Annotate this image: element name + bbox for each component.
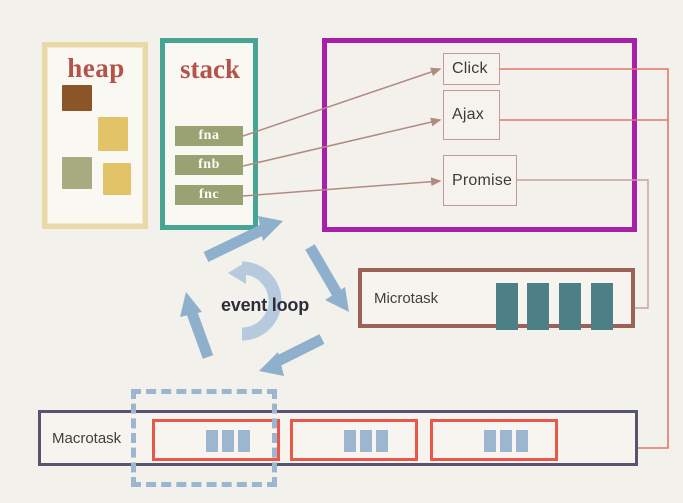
stack-title: stack [166,52,254,86]
web-api-click[interactable]: Click [443,53,500,85]
macrotask-selection-highlight [131,389,277,487]
microtask-item [527,283,549,330]
stack-frame-fna: fna [175,126,243,146]
microtask-label: Microtask [374,288,484,310]
event-loop-label: event loop [205,293,325,317]
diagram-canvas: heap stack fna fnb fnc Click Ajax Promis… [0,0,683,503]
macrotask-item [344,430,356,452]
microtask-item [591,283,613,330]
stack-frame-fnc: fnc [175,185,243,205]
heap-object-4 [103,163,131,195]
microtask-item [496,283,518,330]
arrow-from-queues [180,292,208,357]
heap-object-3 [62,157,92,189]
macrotask-item [484,430,496,452]
stack-frame-fnb: fnb [175,155,243,175]
arrow-to-macrotask [259,339,322,376]
macrotask-item [500,430,512,452]
event-loop-ring-arrowhead [228,262,246,284]
heap-object-2 [98,117,128,151]
web-api-promise[interactable]: Promise [443,155,517,206]
web-api-ajax[interactable]: Ajax [443,90,500,140]
macrotask-item [516,430,528,452]
heap-title: heap [56,52,136,84]
macrotask-item [360,430,372,452]
heap-object-1 [62,85,92,111]
microtask-item [559,283,581,330]
macrotask-item [376,430,388,452]
